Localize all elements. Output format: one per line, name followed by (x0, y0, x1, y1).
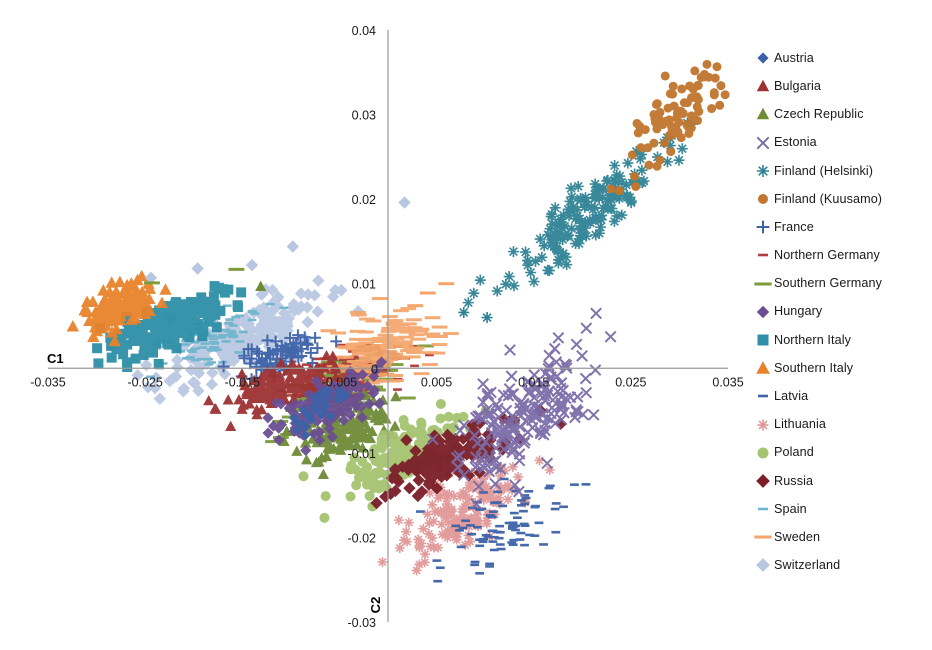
data-point (661, 71, 670, 80)
data-point (510, 512, 519, 515)
legend-item-northern-germany[interactable]: Northern Germany (752, 241, 932, 269)
data-point (580, 373, 590, 383)
data-point (622, 192, 633, 203)
data-point (560, 252, 571, 263)
legend-item-sweden[interactable]: Sweden (752, 523, 932, 551)
data-point (513, 516, 522, 519)
data-point (530, 534, 539, 537)
legend-item-lithuania[interactable]: Lithuania (752, 410, 932, 438)
data-point (485, 565, 494, 568)
data-point (365, 338, 381, 341)
data-point (687, 124, 696, 133)
data-point (550, 343, 560, 353)
outlier-point (438, 282, 454, 285)
data-point (509, 523, 518, 526)
data-point (393, 388, 402, 391)
legend-item-northern-italy[interactable]: Northern Italy (752, 326, 932, 354)
data-point (711, 74, 720, 83)
data-point (301, 454, 312, 464)
data-point (152, 320, 162, 330)
x-tick-label: -0.005 (322, 375, 357, 389)
data-point (279, 307, 288, 310)
data-point (400, 396, 416, 399)
data-point (230, 335, 239, 338)
data-point (210, 281, 220, 291)
legend-item-label: Spain (774, 503, 807, 516)
y-tick-label: 0.03 (352, 109, 376, 123)
data-point (350, 311, 366, 314)
legend-item-label: Finland (Helsinki) (774, 165, 873, 178)
data-point (436, 566, 445, 569)
data-point (309, 332, 321, 344)
data-point (422, 363, 438, 366)
data-point (346, 491, 356, 501)
data-point (424, 333, 440, 336)
data-point (594, 228, 605, 239)
data-point (575, 193, 586, 204)
data-point (413, 328, 429, 331)
data-point (506, 371, 516, 381)
data-point (472, 510, 482, 520)
data-point (154, 393, 166, 405)
outlier-point (615, 186, 624, 195)
data-point (501, 405, 511, 415)
x-tick-label: -0.025 (127, 375, 162, 389)
dash-glyph (758, 395, 768, 398)
data-point (721, 90, 730, 99)
data-point (467, 533, 476, 536)
data-point (299, 471, 309, 481)
legend-item-bulgaria[interactable]: Bulgaria (752, 72, 932, 100)
series-finland-kuusamo (606, 60, 729, 194)
data-point (209, 337, 218, 340)
data-point (233, 302, 243, 312)
data-point (393, 341, 409, 344)
legend: AustriaBulgariaCzech RepublicEstoniaFinl… (752, 44, 932, 580)
data-point (198, 326, 208, 336)
outlier-point (458, 307, 469, 318)
data-point (389, 420, 400, 430)
data-point (492, 286, 503, 297)
data-point (578, 227, 589, 238)
legend-item-spain[interactable]: Spain (752, 495, 932, 523)
data-point (383, 336, 399, 339)
data-point (493, 491, 502, 494)
data-point (181, 343, 190, 346)
data-point (399, 331, 415, 334)
data-point (660, 139, 669, 148)
data-point (420, 557, 430, 567)
data-point (715, 101, 724, 110)
x-tick-label: -0.015 (225, 375, 260, 389)
circle-glyph (758, 194, 768, 204)
data-point (605, 332, 615, 342)
data-point (520, 523, 529, 526)
data-point (248, 310, 257, 313)
data-point (320, 329, 336, 332)
data-point (236, 287, 246, 297)
legend-item-estonia[interactable]: Estonia (752, 129, 932, 157)
circle-marker-icon (752, 442, 774, 464)
data-point (390, 326, 406, 329)
data-point (475, 572, 484, 575)
data-point (457, 546, 466, 549)
data-point (181, 328, 191, 338)
y-tick-label-zero: 0 (371, 362, 378, 376)
data-point (497, 548, 506, 551)
data-point (250, 312, 259, 315)
data-point (536, 252, 547, 263)
legend-item-poland[interactable]: Poland (752, 439, 932, 467)
data-point (229, 324, 238, 327)
data-point (188, 350, 197, 353)
data-point (433, 543, 443, 553)
data-point (552, 226, 563, 237)
data-point (485, 563, 494, 566)
data-point (495, 525, 504, 528)
data-point (225, 421, 236, 431)
data-point (508, 246, 519, 257)
data-point (530, 506, 539, 509)
data-point (403, 482, 415, 494)
dash-glyph (758, 508, 768, 511)
data-point (248, 319, 257, 322)
data-point (707, 104, 716, 113)
data-point (455, 529, 464, 532)
outlier-point (407, 304, 423, 307)
data-point (519, 510, 528, 513)
data-point (93, 358, 103, 368)
data-point (358, 330, 374, 333)
data-point (410, 365, 419, 368)
data-point (382, 315, 398, 318)
data-point (588, 410, 598, 420)
data-point (365, 319, 381, 322)
data-point (354, 473, 364, 483)
data-point (220, 288, 230, 298)
data-point (503, 494, 513, 504)
legend-item-label: Czech Republic (774, 108, 864, 121)
data-point (586, 201, 597, 212)
dash-marker-icon (752, 385, 774, 407)
data-point (652, 100, 661, 109)
data-point (151, 339, 161, 349)
data-point (459, 527, 468, 530)
y-axis-title: C2 (368, 597, 383, 614)
legend-item-label: Estonia (774, 136, 817, 149)
data-point (401, 527, 411, 537)
outlier-point (191, 262, 203, 274)
data-point (223, 394, 234, 404)
data-point (378, 334, 394, 337)
data-point (566, 223, 577, 234)
data-point (670, 122, 679, 131)
data-point (425, 316, 441, 319)
data-point (201, 342, 210, 345)
data-point (311, 305, 323, 317)
data-point (551, 531, 560, 534)
data-point (591, 308, 601, 318)
data-point (422, 351, 438, 354)
x-tick-label: 0.035 (712, 375, 743, 389)
y-tick-label: -0.02 (348, 531, 377, 545)
legend-item-southern-germany[interactable]: Southern Germany (752, 270, 932, 298)
data-point (301, 316, 313, 328)
data-point (679, 109, 688, 118)
data-point (520, 502, 529, 505)
data-point (716, 81, 725, 90)
data-point (403, 348, 419, 351)
legend-item-label: Poland (774, 446, 814, 459)
data-point (514, 455, 524, 465)
data-point (559, 505, 568, 508)
legend-item-label: Southern Italy (774, 362, 853, 375)
data-point (661, 117, 670, 126)
data-point (505, 345, 515, 355)
data-point (388, 379, 404, 382)
circle-glyph (758, 447, 769, 458)
legend-item-southern-italy[interactable]: Southern Italy (752, 354, 932, 382)
data-point (712, 62, 721, 71)
y-tick-label: 0.01 (352, 278, 376, 292)
legend-item-label: Latvia (774, 390, 808, 403)
data-point (590, 365, 600, 375)
data-point (643, 143, 652, 152)
legend-item-label: Lithuania (774, 418, 826, 431)
data-point (653, 115, 662, 124)
data-point (416, 417, 426, 427)
diamond-marker-icon (752, 470, 774, 492)
legend-item-finland-kuusamo[interactable]: Finland (Kuusamo) (752, 185, 932, 213)
outlier-point (398, 196, 410, 208)
data-point (545, 487, 554, 490)
data-point (427, 533, 437, 543)
data-point (431, 343, 447, 346)
data-point (557, 234, 568, 245)
data-point (544, 350, 554, 360)
data-point (122, 362, 132, 372)
data-point (187, 311, 197, 321)
data-point (191, 359, 200, 362)
asterisk-glyph (758, 419, 769, 430)
data-point (516, 538, 525, 541)
data-point (67, 320, 79, 331)
legend-item-france[interactable]: France (752, 213, 932, 241)
legend-item-finland-helsinki[interactable]: Finland (Helsinki) (752, 157, 932, 185)
data-point (144, 347, 154, 357)
diamond-glyph (757, 306, 769, 318)
outlier-point (482, 312, 493, 323)
diamond-marker-icon (752, 554, 774, 576)
legend-item-latvia[interactable]: Latvia (752, 382, 932, 410)
data-point (370, 347, 386, 350)
data-point (517, 499, 526, 502)
legend-item-label: France (774, 221, 814, 234)
data-point (416, 510, 425, 513)
data-point (577, 351, 587, 361)
dash-marker-icon (752, 244, 774, 266)
data-point (114, 276, 126, 287)
data-point (475, 275, 486, 286)
data-point (500, 279, 511, 290)
x-tick-label: 0.025 (615, 375, 646, 389)
data-point (463, 297, 474, 308)
triangle-marker-icon (752, 357, 774, 379)
legend-item-austria[interactable]: Austria (752, 44, 932, 72)
data-point (635, 122, 644, 131)
data-point (118, 349, 128, 359)
data-point (507, 541, 516, 544)
asterisk-marker-icon (752, 160, 774, 182)
data-point (444, 489, 454, 499)
data-point (630, 172, 639, 181)
data-point (673, 155, 684, 166)
asterisk-glyph (757, 165, 769, 177)
diamond-glyph (756, 474, 770, 488)
data-point (203, 395, 214, 405)
data-point (159, 283, 171, 294)
data-point (177, 317, 187, 327)
data-point (170, 299, 180, 309)
data-point (552, 244, 563, 255)
data-point (347, 360, 363, 363)
data-point (551, 508, 560, 511)
data-point (528, 276, 539, 287)
dash-wide-marker-icon (752, 273, 774, 295)
data-point (404, 518, 414, 528)
data-point (475, 545, 484, 548)
data-point (460, 540, 470, 550)
data-point (596, 214, 607, 225)
data-point (702, 60, 711, 69)
data-point (412, 565, 422, 575)
legend-item-hungary[interactable]: Hungary (752, 298, 932, 326)
data-point (349, 338, 365, 341)
data-point (493, 531, 502, 534)
data-point (234, 351, 243, 354)
data-point (488, 540, 497, 543)
data-point (210, 346, 219, 349)
data-point (546, 485, 555, 488)
legend-item-russia[interactable]: Russia (752, 467, 932, 495)
data-point (552, 502, 561, 505)
data-point (206, 378, 218, 390)
square-marker-icon (752, 329, 774, 351)
legend-item-czech-republic[interactable]: Czech Republic (752, 100, 932, 128)
data-point (164, 308, 174, 318)
data-point (416, 433, 426, 443)
data-point (400, 421, 410, 431)
data-point (208, 349, 217, 352)
data-point (236, 340, 245, 343)
legend-item-label: Finland (Kuusamo) (774, 193, 882, 206)
data-point (210, 342, 219, 345)
plus-marker-icon (752, 216, 774, 238)
data-point (235, 315, 244, 318)
data-point (691, 93, 700, 102)
data-point (225, 322, 234, 325)
data-point (207, 302, 217, 312)
data-point (572, 210, 583, 221)
data-point (312, 274, 324, 286)
data-point (606, 194, 617, 205)
data-point (393, 323, 409, 326)
y-tick-label: -0.03 (348, 616, 377, 630)
outlier-point (144, 281, 160, 284)
data-point (539, 240, 550, 251)
data-point (381, 458, 391, 468)
data-point (198, 346, 207, 349)
data-point (580, 217, 591, 228)
data-point (452, 535, 462, 545)
data-point (393, 437, 403, 447)
legend-item-label: Switzerland (774, 559, 840, 572)
triangle-marker-icon (752, 75, 774, 97)
data-point (553, 333, 563, 343)
plus-glyph (757, 221, 770, 234)
data-point (644, 161, 653, 170)
data-point (571, 339, 581, 349)
x-tick-label: 0.005 (421, 375, 452, 389)
data-point (539, 543, 548, 546)
data-point (471, 561, 480, 564)
legend-item-label: Bulgaria (774, 80, 821, 93)
data-point (372, 353, 388, 356)
data-point (493, 501, 502, 504)
x-tick-label: -0.035 (30, 375, 65, 389)
data-point (381, 330, 397, 333)
data-point (522, 255, 533, 266)
data-point (490, 536, 499, 539)
data-point (473, 526, 482, 529)
data-point (581, 323, 591, 333)
data-point (496, 543, 505, 546)
x-glyph (757, 137, 768, 148)
data-point (542, 265, 553, 276)
asterisk-marker-icon (752, 414, 774, 436)
data-point (520, 247, 531, 258)
data-point (92, 343, 102, 353)
triangle-glyph (756, 361, 770, 374)
data-point (524, 490, 533, 493)
data-point (377, 557, 387, 567)
data-point (460, 490, 470, 500)
data-point (217, 336, 226, 339)
data-point (669, 82, 678, 91)
data-point (227, 331, 236, 334)
data-point (606, 184, 615, 193)
data-point (498, 505, 507, 508)
dash-wide-glyph (754, 536, 771, 539)
data-point (489, 510, 498, 513)
legend-item-switzerland[interactable]: Switzerland (752, 551, 932, 579)
diamond-glyph (757, 53, 768, 64)
data-point (570, 483, 579, 486)
diamond-marker-icon (752, 47, 774, 69)
data-point (378, 373, 394, 376)
data-point (376, 439, 386, 449)
dash-wide-glyph (754, 282, 771, 285)
y-tick-label: 0.04 (352, 24, 376, 38)
y-tick-label: 0.02 (352, 193, 376, 207)
triangle-glyph (757, 108, 769, 119)
triangle-glyph (757, 80, 769, 91)
data-point (694, 107, 703, 116)
x-axis-title: C1 (47, 351, 64, 366)
dash-wide-marker-icon (752, 526, 774, 548)
data-point (154, 359, 164, 369)
data-point (433, 580, 442, 583)
